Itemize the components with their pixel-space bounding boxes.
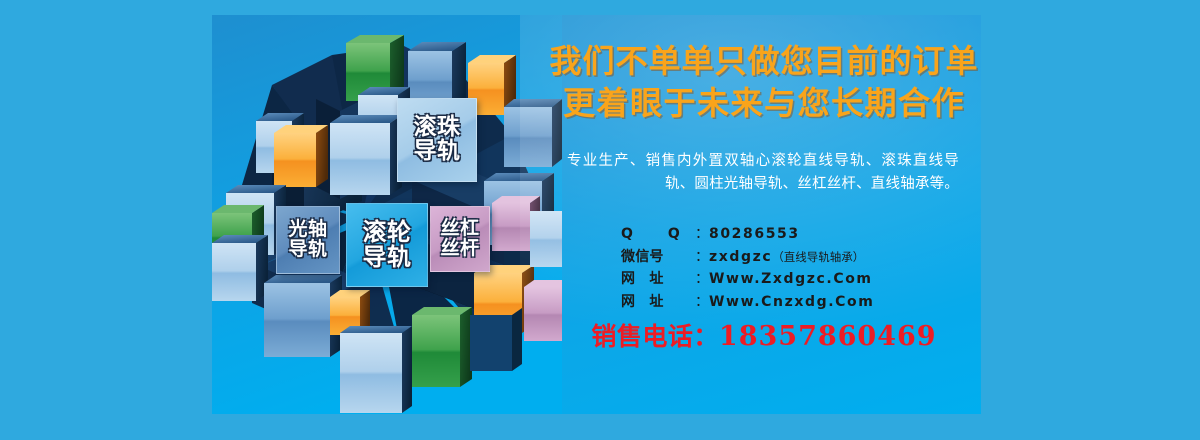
contact-value-website-2[interactable]: Www.Cnzxdg.Com [709,291,874,314]
contact-row-website-1: 网 址 ： Www.Zxdgzc.Com [621,268,951,291]
contact-separator: ： [695,223,709,246]
contact-value-qq[interactable]: 80286553 [709,223,800,246]
contact-info-block: QQ ： 80286553 微信号 ： zxdgzc （直线导轨轴承） 网 址 … [621,223,951,314]
contact-value-website-1[interactable]: Www.Zxdgzc.Com [709,268,873,291]
product-label-sigang-sigan[interactable]: 丝杠 丝杆 [430,206,490,272]
product-label-line1: 滚轮 [363,220,412,245]
headline-line-1: 我们不单单只做您目前的订单 [547,41,981,83]
promo-banner: 滚珠 导轨 光轴 导轨 滚轮 导轨 丝杠 丝杆 我们不单单只做您目前的订单 更着… [212,15,981,414]
sales-phone-number[interactable]: 18357860469 [719,321,937,352]
contact-note-wechat: （直线导轨轴承） [772,248,864,267]
sales-phone[interactable]: 销售电话：18357860469 [547,317,981,353]
product-label-line1: 滚珠 [414,116,461,140]
copy-column: 我们不单单只做您目前的订单 更着眼于未来与您长期合作 专业生产、销售内外置双轴心… [547,15,981,414]
sales-phone-label: 销售电话： [591,322,719,351]
contact-row-wechat: 微信号 ： zxdgzc （直线导轨轴承） [621,246,951,269]
contact-separator: ： [695,246,709,269]
product-label-gunlun-daogui[interactable]: 滚轮 导轨 [346,203,428,287]
contact-separator: ： [695,291,709,314]
description-text: 专业生产、销售内外置双轴心滚轮直线导轨、滚珠直线导轨、圆柱光轴导轨、丝杠丝杆、直… [567,150,959,197]
product-label-guangzhou-daogui[interactable]: 光轴 导轨 [276,206,340,274]
contact-label-website-2: 网 址 [621,291,695,314]
contact-row-website-2: 网 址 ： Www.Cnzxdg.Com [621,291,951,314]
product-label-gunzhu-daogui[interactable]: 滚珠 导轨 [397,98,477,182]
banner-stage: 滚珠 导轨 光轴 导轨 滚轮 导轨 丝杠 丝杆 我们不单单只做您目前的订单 更着… [0,0,1200,440]
headline: 我们不单单只做您目前的订单 更着眼于未来与您长期合作 [547,41,981,124]
headline-line-2: 更着眼于未来与您长期合作 [547,83,981,125]
contact-label-wechat: 微信号 [621,246,695,269]
product-label-line2: 导轨 [414,140,461,164]
contact-label-qq: QQ [621,223,695,246]
product-label-line2: 导轨 [363,245,412,270]
contact-value-wechat[interactable]: zxdgzc [709,246,772,269]
contact-label-website-1: 网 址 [621,268,695,291]
product-label-line2: 导轨 [288,240,327,260]
contact-row-qq: QQ ： 80286553 [621,223,951,246]
product-label-line2: 丝杆 [440,239,479,259]
contact-separator: ： [695,268,709,291]
